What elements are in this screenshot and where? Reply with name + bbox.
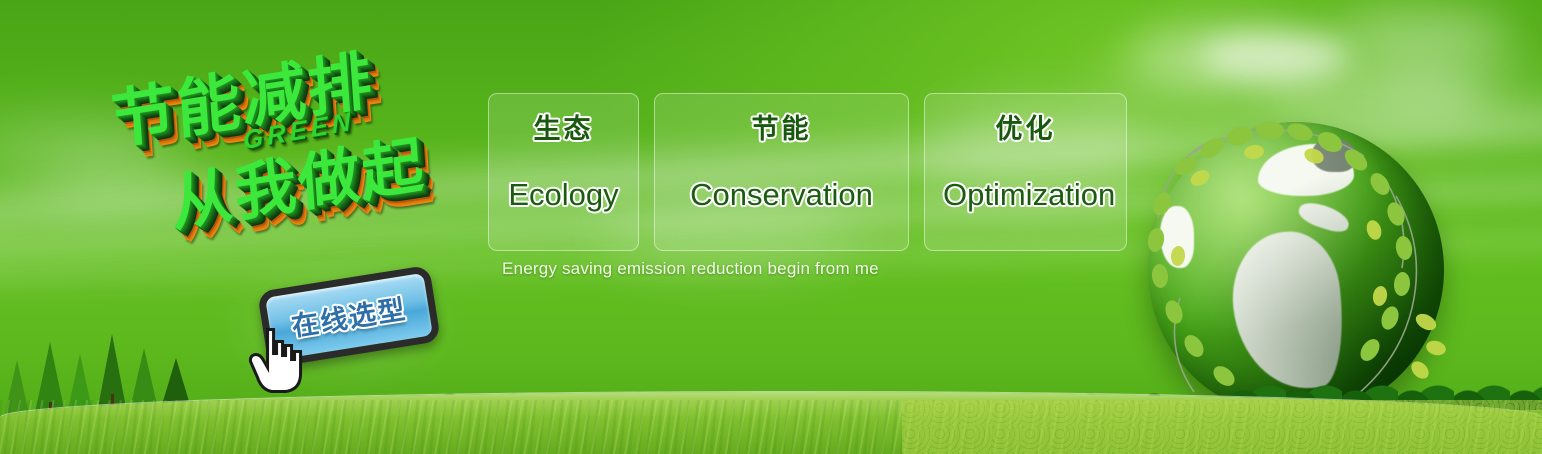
feature-card-optimization[interactable]: 优化 Optimization	[924, 93, 1127, 251]
feature-card-title-en: Optimization	[943, 179, 1108, 210]
feature-card-title-cn: 节能	[673, 116, 890, 143]
feature-card-title-en: Conservation	[673, 179, 890, 210]
hand-pointer-icon	[246, 320, 312, 396]
cloud-icon	[1380, 60, 1542, 120]
feature-card-title-cn: 优化	[943, 116, 1108, 143]
cloud-icon	[1200, 34, 1350, 78]
cloud-icon	[40, 150, 220, 204]
headline-line-1: 节能减排	[108, 29, 376, 162]
headline-line-2: 从我做起	[168, 114, 428, 244]
cloud-icon	[1130, 22, 1340, 90]
feature-card-list: 生态 Ecology 节能 Conservation 优化 Optimizati…	[488, 93, 1127, 251]
globe-shading	[1148, 122, 1444, 418]
grass-field-icon	[0, 392, 1542, 454]
cloud-icon	[1330, 10, 1510, 62]
leafy-globe-icon	[1148, 122, 1444, 418]
online-selection-button[interactable]: 在线选型	[257, 265, 441, 368]
headline-accent: GREEN	[242, 106, 356, 157]
cloud-icon	[1260, 66, 1490, 124]
eco-banner: 节能减排 GREEN 从我做起 在线选型 生态 Ecology 节能 Conse…	[0, 0, 1542, 454]
feature-card-title-cn: 生态	[507, 116, 620, 143]
feature-card-title-en: Ecology	[507, 179, 620, 210]
headline-art: 节能减排 GREEN 从我做起	[88, 25, 493, 282]
feature-card-ecology[interactable]: 生态 Ecology	[488, 93, 639, 251]
conifer-tree-icon	[34, 342, 66, 418]
feature-card-conservation[interactable]: 节能 Conservation	[654, 93, 909, 251]
banner-tagline: Energy saving emission reduction begin f…	[502, 259, 879, 279]
conifer-tree-icon	[4, 360, 30, 418]
globe-sphere	[1148, 122, 1444, 418]
cloud-icon	[0, 118, 170, 184]
